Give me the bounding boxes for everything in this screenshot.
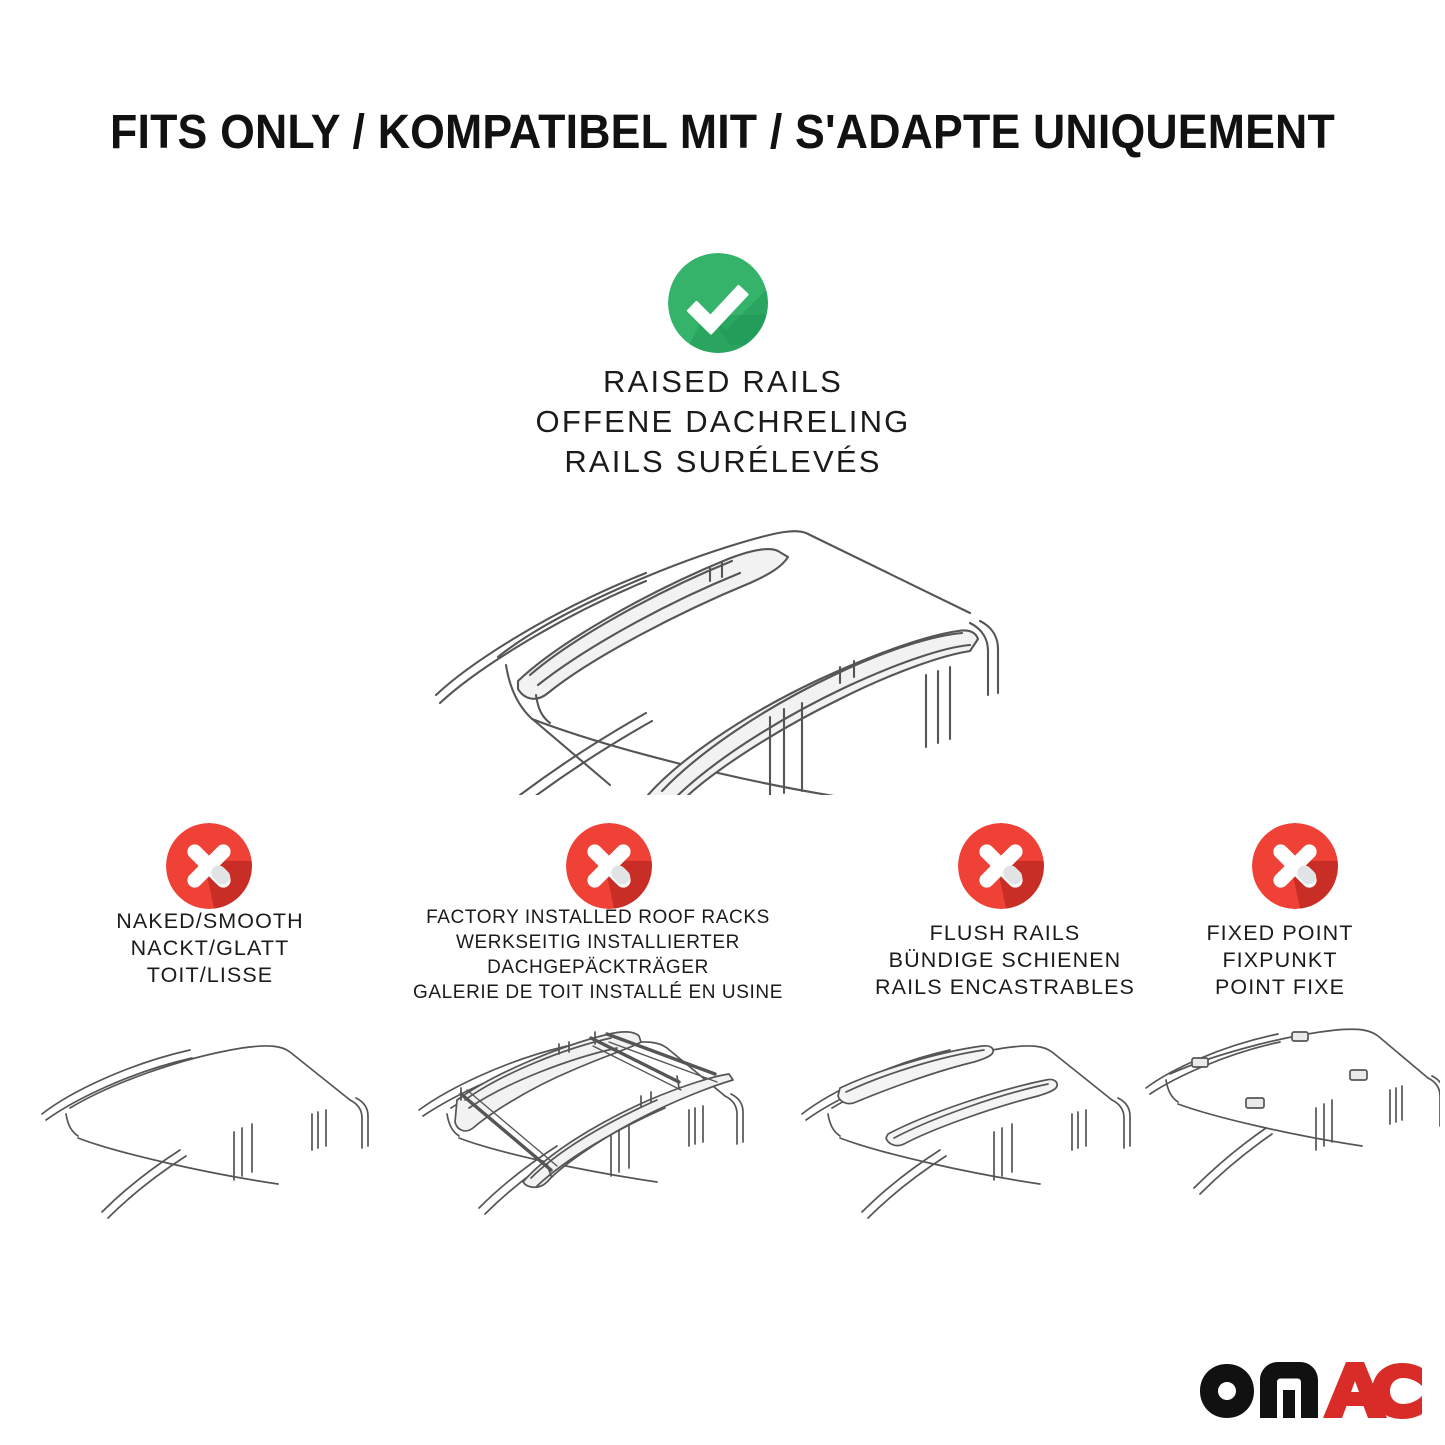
- caption-line: NAKED/SMOOTH: [30, 908, 390, 935]
- caption-line: RAISED RAILS: [373, 362, 1073, 402]
- check-circle-icon: [668, 253, 768, 353]
- x-circle-icon-factory-racks: [566, 823, 652, 909]
- caption-line: OFFENE DACHRELING: [373, 402, 1073, 442]
- page-title: FITS ONLY / KOMPATIBEL MIT / S'ADAPTE UN…: [51, 104, 1395, 162]
- caption-line: NACKT/GLATT: [30, 935, 390, 962]
- fixed-point-caption: FIXED POINT FIXPUNKT POINT FIXE: [1130, 920, 1430, 1001]
- omac-logo: [1194, 1356, 1422, 1422]
- caption-line: RAILS SURÉLEVÉS: [373, 442, 1073, 482]
- caption-line: POINT FIXE: [1130, 974, 1430, 1001]
- compatibility-infographic: FITS ONLY / KOMPATIBEL MIT / S'ADAPTE UN…: [0, 0, 1445, 1445]
- caption-line: TOIT/LISSE: [30, 962, 390, 989]
- caption-line: GALERIE DE TOIT INSTALLÉ EN USINE: [358, 980, 838, 1005]
- caption-line: WERKSEITIG INSTALLIERTER: [358, 930, 838, 955]
- x-circle-icon-flush-rails: [958, 823, 1044, 909]
- car-roof-factory-racks-illustration: [395, 1012, 755, 1247]
- caption-line: FIXPUNKT: [1130, 947, 1430, 974]
- x-circle-icon-fixed-point: [1252, 823, 1338, 909]
- caption-line: FACTORY INSTALLED ROOF RACKS: [358, 905, 838, 930]
- x-circle-icon-naked-smooth: [166, 823, 252, 909]
- car-roof-fixed-point-illustration: [1140, 1022, 1440, 1247]
- compatible-caption: RAISED RAILS OFFENE DACHRELING RAILS SUR…: [373, 362, 1073, 482]
- caption-line: DACHGEPÄCKTRÄGER: [358, 955, 838, 980]
- car-roof-raised-rails-illustration: [410, 495, 1050, 795]
- caption-line: FIXED POINT: [1130, 920, 1430, 947]
- naked-smooth-caption: NAKED/SMOOTH NACKT/GLATT TOIT/LISSE: [30, 908, 390, 989]
- factory-racks-caption: FACTORY INSTALLED ROOF RACKS WERKSEITIG …: [358, 905, 838, 1005]
- car-roof-naked-smooth-illustration: [20, 1022, 380, 1247]
- car-roof-flush-rails-illustration: [780, 1022, 1140, 1247]
